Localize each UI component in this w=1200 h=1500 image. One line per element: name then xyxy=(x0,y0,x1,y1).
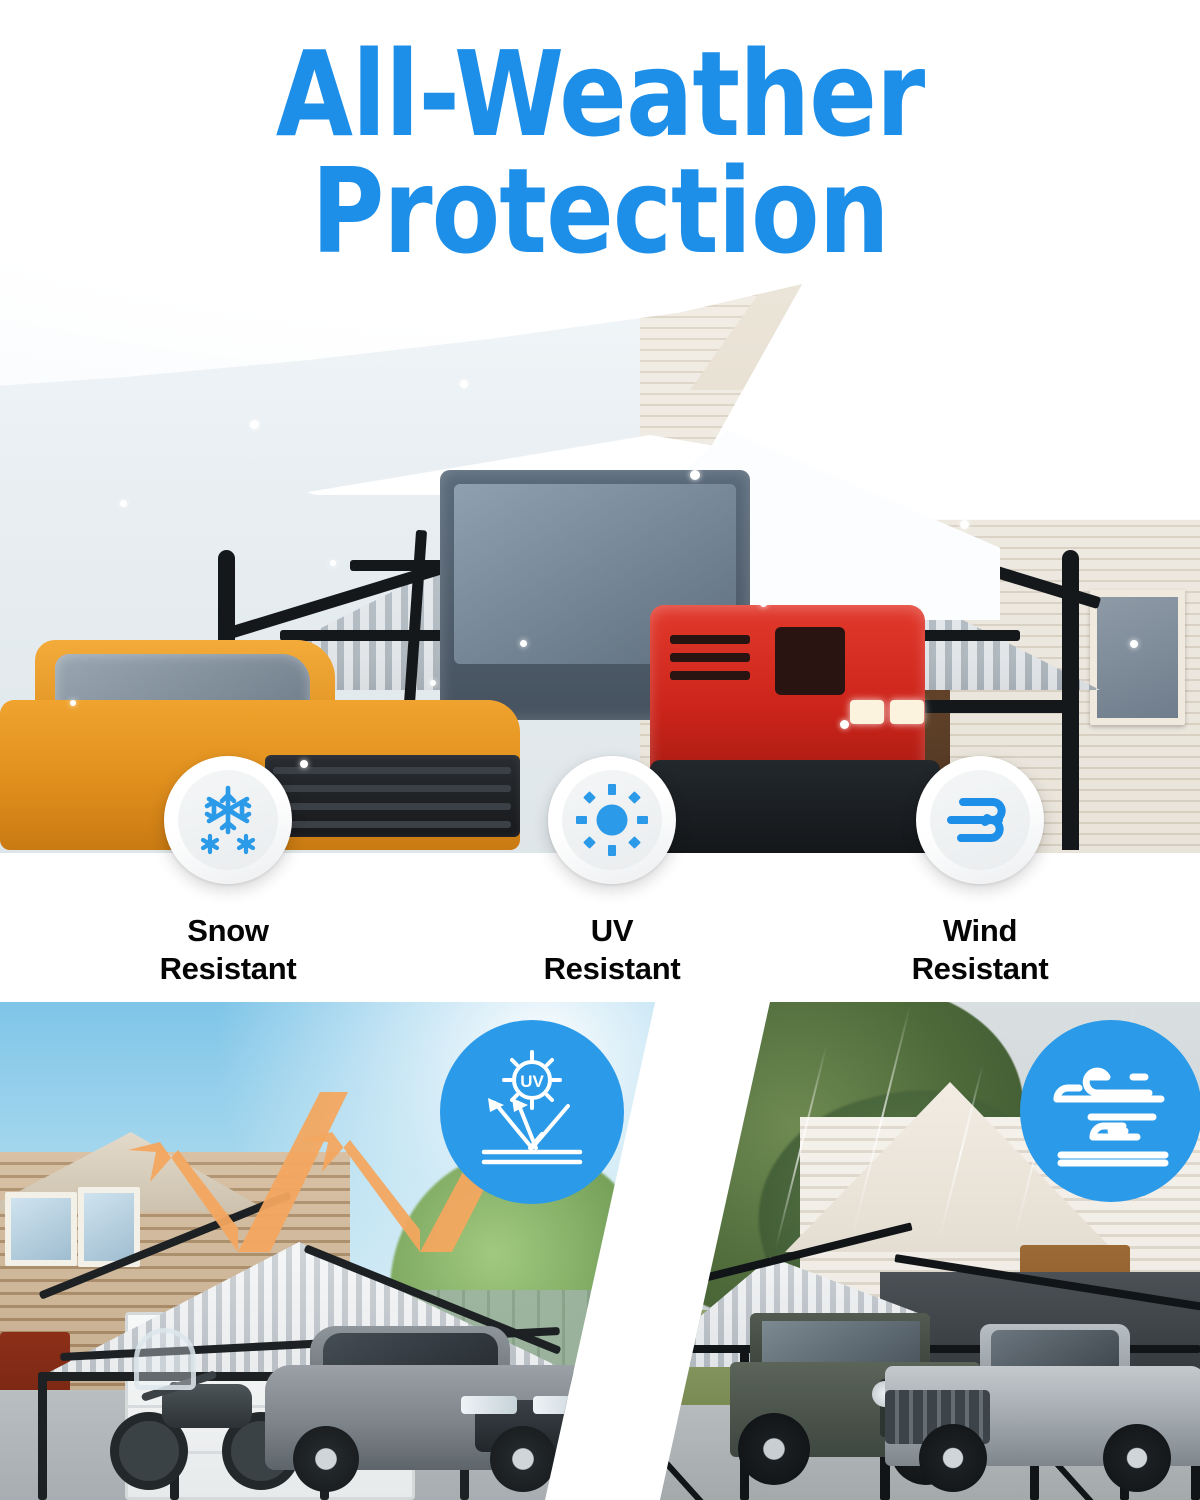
tractor-vent xyxy=(670,671,750,680)
snowflake-particle xyxy=(460,380,468,388)
pickup-wheel xyxy=(919,1424,987,1492)
carport-post xyxy=(38,1372,47,1500)
grille-slat xyxy=(273,803,511,810)
tractor-headlight-icon xyxy=(890,700,924,724)
wind-resistant-badge xyxy=(916,756,1044,884)
uv-badge-text: UV xyxy=(520,1072,544,1091)
snowflake-particle xyxy=(880,350,888,358)
carport-brace xyxy=(648,1443,719,1500)
tractor-headlight-icon xyxy=(850,700,884,724)
snow-resistant-badge xyxy=(164,756,292,884)
headline-line-2: Protection xyxy=(36,155,1164,268)
snowflake-icon xyxy=(189,781,267,859)
motorcycle-windshield xyxy=(134,1328,196,1390)
headline-line-1: All-Weather xyxy=(36,38,1164,151)
snowflake-particle xyxy=(330,560,336,566)
suv-wheel xyxy=(293,1426,359,1492)
grille-slat xyxy=(273,821,511,828)
snowflake-particle xyxy=(430,680,436,686)
uv-panel: UV xyxy=(0,1002,660,1500)
feature-label-wind: Wind Resistant xyxy=(830,912,1130,988)
tractor-panel xyxy=(775,627,845,695)
carport-post xyxy=(1062,550,1079,850)
headline: All-Weather Protection xyxy=(0,38,1200,269)
badge-inner-circle xyxy=(562,770,662,870)
sun-icon xyxy=(574,782,650,858)
gray-suv xyxy=(265,1327,595,1492)
jeep-wheel xyxy=(738,1413,810,1485)
grille-slat xyxy=(273,767,511,774)
wind-panel xyxy=(640,1002,1200,1500)
uv-panel-badge: UV xyxy=(440,1020,624,1204)
snowflake-particle xyxy=(690,470,700,480)
snowflake-particle xyxy=(1050,430,1057,437)
feature-label-snow: Snow Resistant xyxy=(78,912,378,988)
snowflake-particle xyxy=(1130,640,1138,648)
tractor-wheel xyxy=(650,760,940,853)
tractor-vent xyxy=(670,635,750,644)
badge-inner-circle xyxy=(178,770,278,870)
uv-resistant-badge xyxy=(548,756,676,884)
wind-icon xyxy=(941,785,1019,855)
snowflake-particle xyxy=(520,640,527,647)
snowflake-particle xyxy=(760,600,767,607)
snowflake-particle xyxy=(1160,300,1168,308)
snowflake-particle xyxy=(840,720,849,729)
snowflake-particle xyxy=(120,500,127,507)
badge-inner-circle xyxy=(930,770,1030,870)
tractor-vent xyxy=(670,653,750,662)
suv-wheel xyxy=(490,1426,556,1492)
snowflake-particle xyxy=(300,760,308,768)
grille-slat xyxy=(273,785,511,792)
pickup-wheel xyxy=(1103,1424,1171,1492)
snowflake-particle xyxy=(70,700,76,706)
carport-post xyxy=(570,1372,579,1500)
suv-headlight-icon xyxy=(533,1396,589,1414)
feature-label-text: UV Resistant xyxy=(462,912,762,988)
feature-label-uv: UV Resistant xyxy=(462,912,762,988)
feature-label-text: Wind Resistant xyxy=(830,912,1130,988)
carport-post xyxy=(640,1347,649,1500)
house-window xyxy=(1090,590,1185,725)
snowflake-particle xyxy=(250,420,259,429)
snowflake-particle xyxy=(960,520,969,529)
bottom-panels: UV xyxy=(0,1002,1200,1500)
uv-reflection-icon: UV xyxy=(468,1048,596,1176)
wind-gust-icon xyxy=(1049,1055,1173,1167)
suv-headlight-icon xyxy=(461,1396,517,1414)
silver-pickup-truck xyxy=(885,1322,1200,1492)
wind-panel-badge xyxy=(1020,1020,1200,1202)
tractor-hood xyxy=(650,605,925,780)
product-infographic: All-Weather Protection xyxy=(0,0,1200,1500)
feature-label-text: Snow Resistant xyxy=(78,912,378,988)
